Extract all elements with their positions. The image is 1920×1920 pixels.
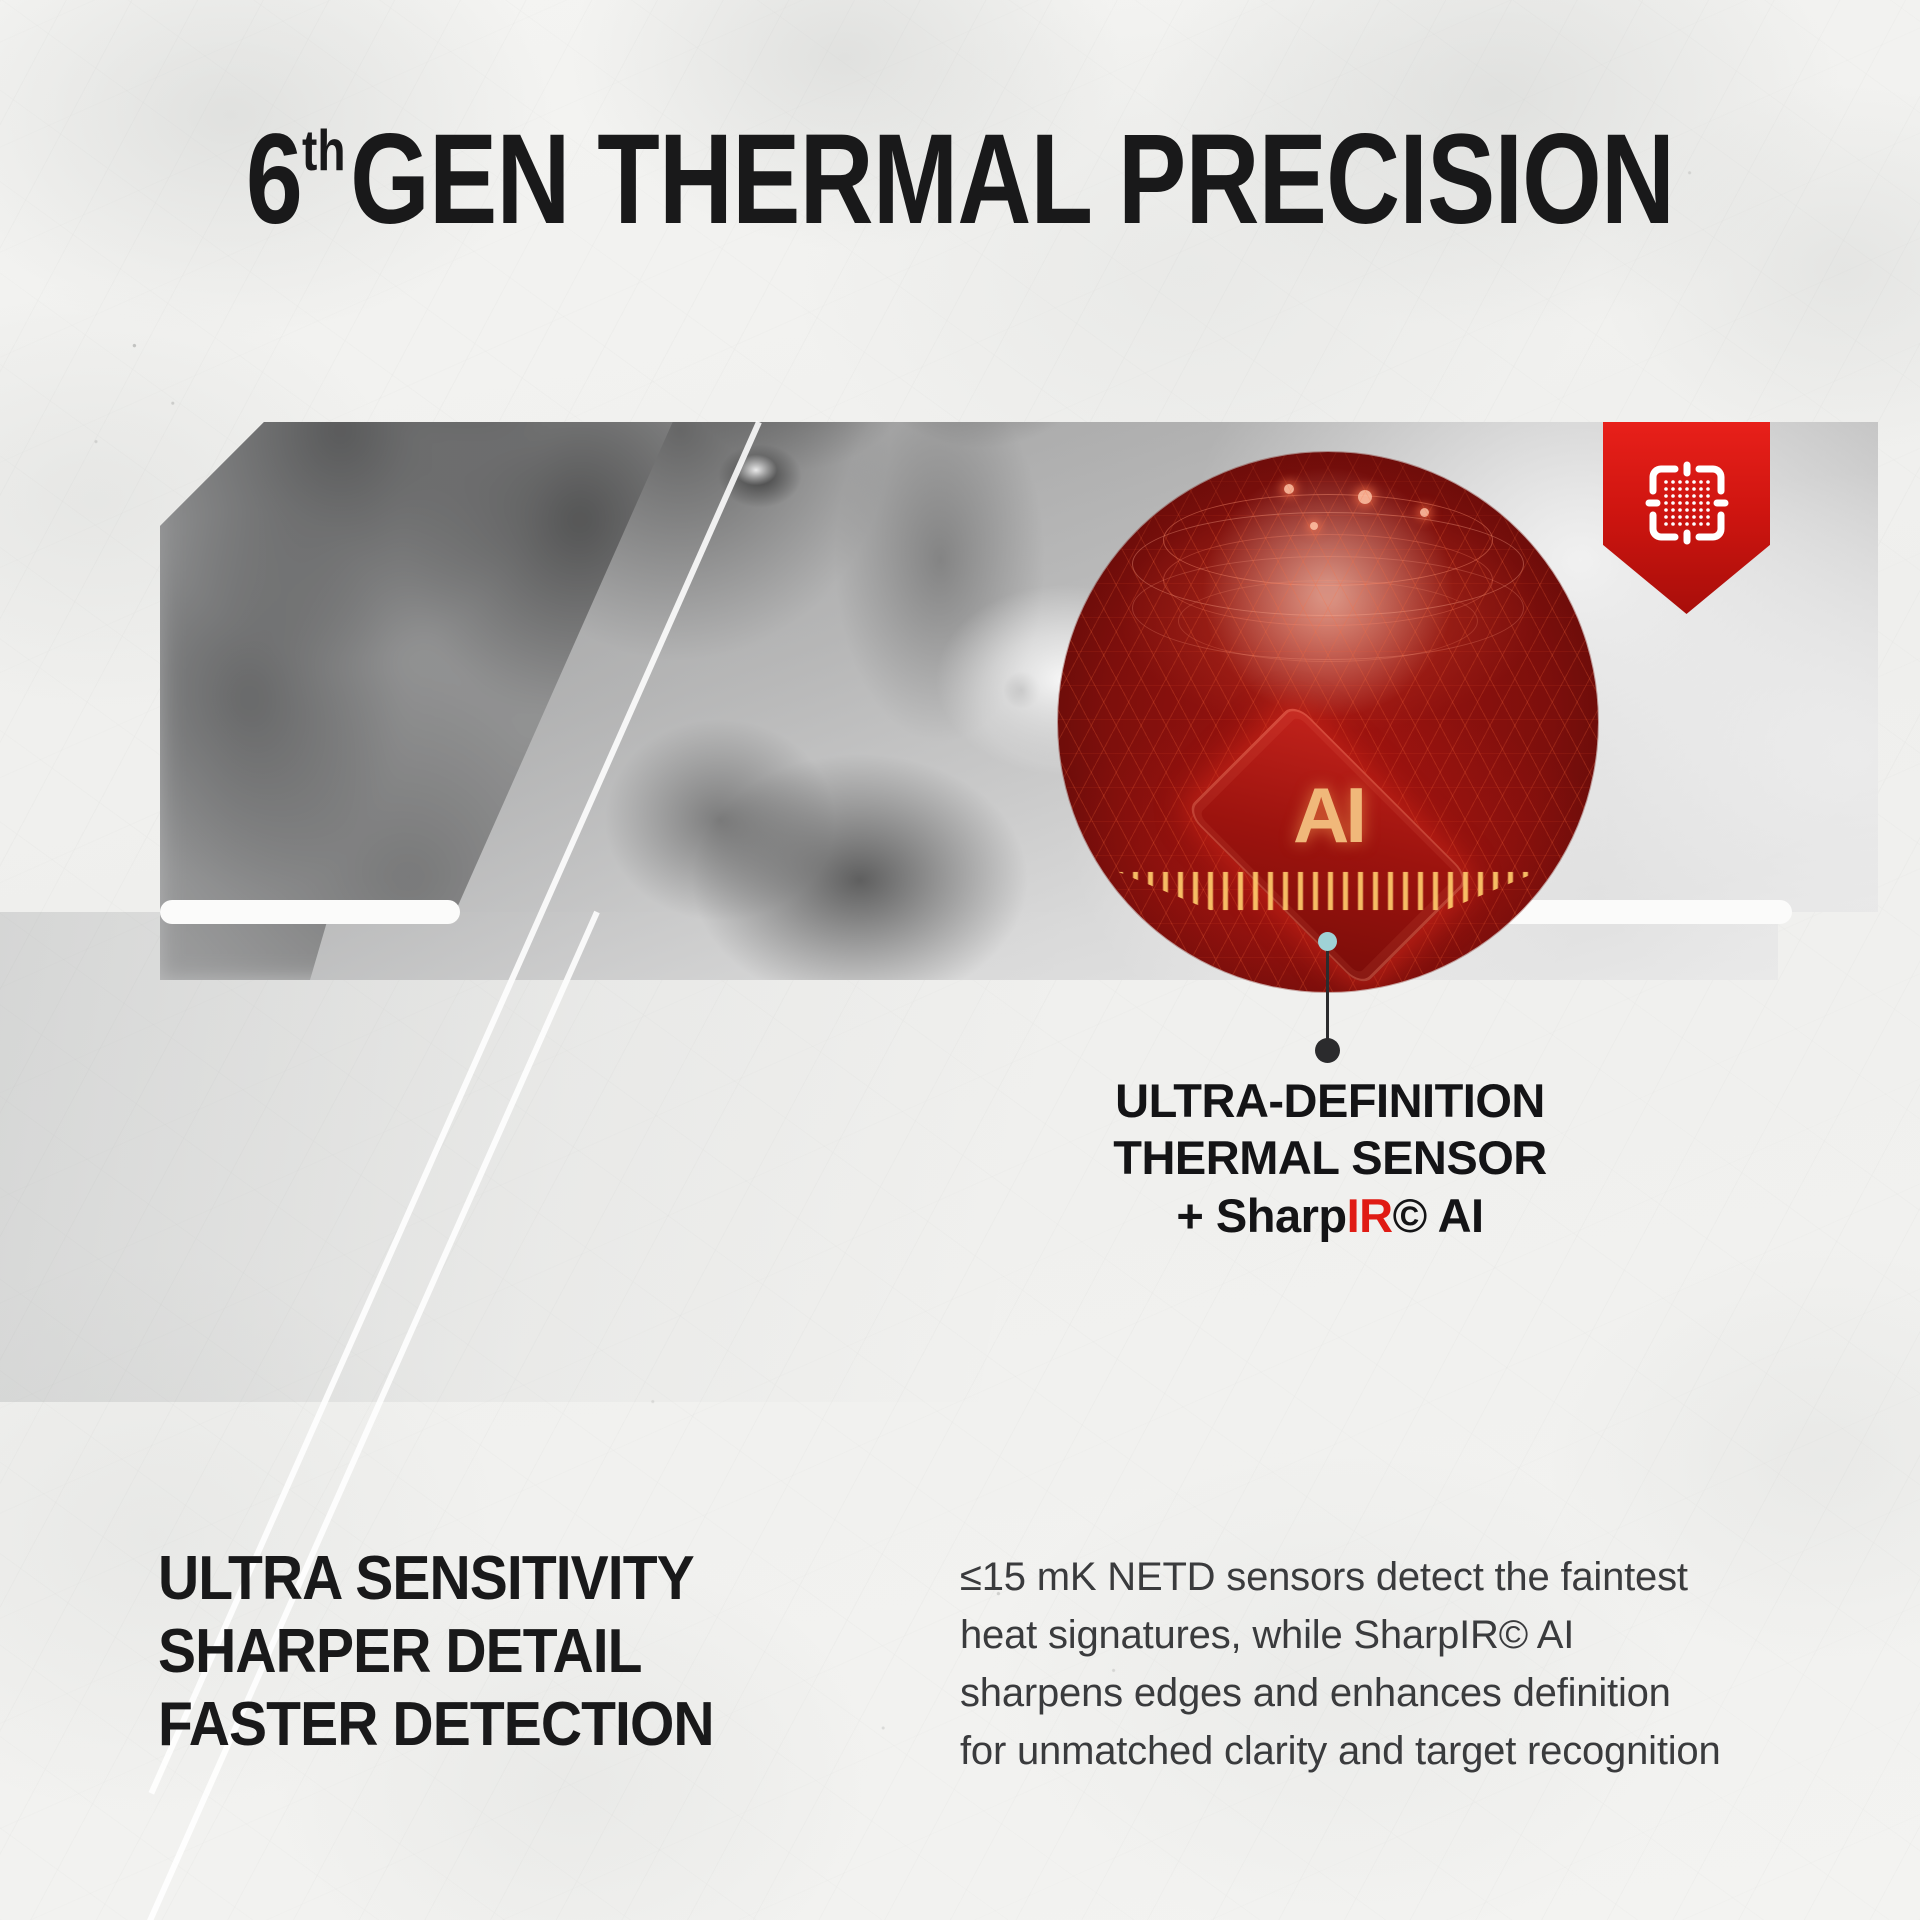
headline-number: 6 (246, 108, 302, 251)
headline-ordinal: th (302, 119, 346, 183)
connector-dot-dark (1315, 1038, 1340, 1063)
ai-chip-circle: AI (1058, 452, 1598, 992)
callout-line-3: + SharpIR© AI (980, 1187, 1680, 1244)
description-line-2: heat signatures, while SharpIR© AI (960, 1606, 1740, 1664)
description-line-4: for unmatched clarity and target recogni… (960, 1722, 1740, 1780)
infographic-root: 6thGEN THERMAL PRECISION AI (0, 0, 1920, 1920)
feature-heading-line-1: ULTRA SENSITIVITY (158, 1542, 714, 1615)
page-title: 6thGEN THERMAL PRECISION (192, 116, 1728, 244)
panel-connector-bar-left (160, 900, 460, 924)
callout-sharp-prefix: + Sharp (1176, 1189, 1346, 1242)
callout-ai-suffix: © AI (1393, 1189, 1484, 1242)
sensor-callout: ULTRA-DEFINITION THERMAL SENSOR + SharpI… (980, 1072, 1680, 1244)
callout-ir-accent: IR (1347, 1189, 1393, 1242)
feature-heading: ULTRA SENSITIVITY SHARPER DETAIL FASTER … (158, 1542, 714, 1761)
headline-rest: GEN THERMAL PRECISION (350, 108, 1674, 251)
description-line-3: sharpens edges and enhances definition (960, 1664, 1740, 1722)
thermal-sensor-array-icon (1644, 460, 1730, 546)
chip-ai-label: AI (1293, 770, 1363, 861)
connector-dot-teal (1318, 932, 1337, 951)
description-line-1: ≤15 mK NETD sensors detect the faintest (960, 1548, 1740, 1606)
callout-line-1: ULTRA-DEFINITION (980, 1072, 1680, 1129)
feature-heading-line-3: FASTER DETECTION (158, 1688, 714, 1761)
callout-line-2: THERMAL SENSOR (980, 1129, 1680, 1186)
feature-heading-line-2: SHARPER DETAIL (158, 1615, 714, 1688)
feature-description: ≤15 mK NETD sensors detect the faintest … (960, 1548, 1740, 1780)
connector-line (1326, 940, 1329, 1050)
